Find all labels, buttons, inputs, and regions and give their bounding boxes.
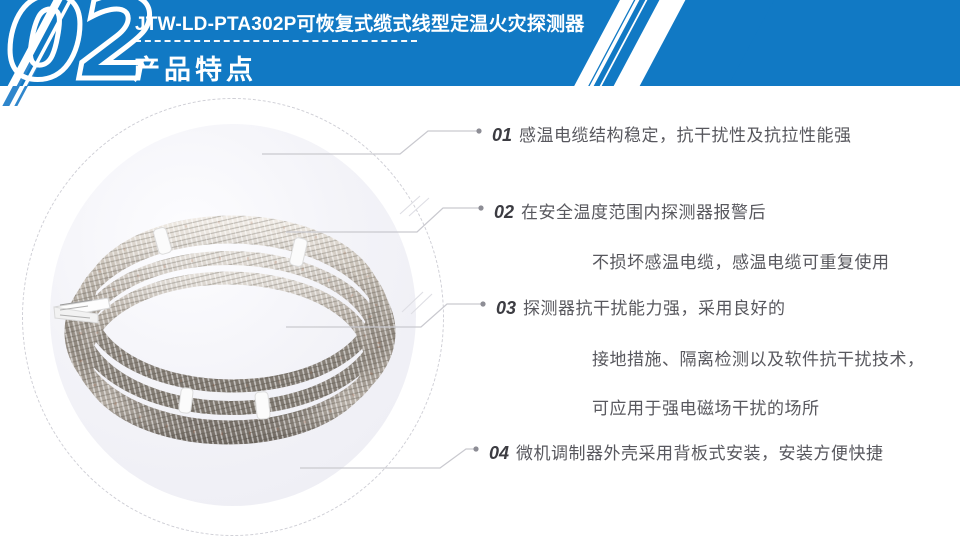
feature-text-03-line-1: 探测器抗干扰能力强，采用良好的	[523, 299, 786, 318]
heat-sensing-cable-illustration	[10, 92, 450, 547]
bullet-dot-04	[473, 446, 478, 451]
feature-text-04-line-1: 微机调制器外壳采用背板式安装，安装方便快捷	[516, 444, 884, 463]
feature-item-03: 03探测器抗干扰能力强，采用良好的	[496, 294, 786, 319]
product-image	[10, 92, 450, 547]
feature-text-03-line-3: 可应用于强电磁场干扰的场所	[592, 394, 820, 419]
bullet-dot-01	[476, 128, 481, 133]
feature-item-01: 01感温电缆结构稳定，抗干扰性及抗拉性能强	[492, 121, 852, 146]
feature-number-01: 01	[492, 125, 512, 145]
section-number-slash-1	[0, 0, 69, 86]
feature-text-03-line-2: 接地措施、隔离检测以及软件抗干扰技术，	[592, 345, 925, 370]
slide-canvas: 02 02 JTW-LD-PTA302P可恢复式缆式线型定温火灾探测器 产品特点	[0, 0, 960, 555]
connector-endpoint-dots	[473, 128, 485, 451]
header-dashed-divider	[135, 40, 417, 42]
bullet-dot-02	[478, 205, 483, 210]
product-title: JTW-LD-PTA302P可恢复式缆式线型定温火灾探测器	[135, 9, 584, 36]
section-heading: 产品特点	[133, 48, 257, 87]
feature-number-03: 03	[496, 298, 516, 318]
feature-item-02: 02在安全温度范围内探测器报警后	[494, 198, 766, 223]
feature-text-01-line-1: 感温电缆结构稳定，抗干扰性及抗拉性能强	[519, 126, 852, 145]
feature-number-02: 02	[494, 202, 514, 222]
feature-text-02-line-2: 不损坏感温电缆，感温电缆可重复使用	[592, 248, 890, 273]
section-number: 02	[6, 0, 150, 86]
bullet-dot-03	[480, 301, 485, 306]
feature-item-04: 04微机调制器外壳采用背板式安装，安装方便快捷	[489, 439, 884, 464]
feature-text-02-line-1: 在安全温度范围内探测器报警后	[521, 203, 766, 222]
feature-number-04: 04	[489, 443, 509, 463]
